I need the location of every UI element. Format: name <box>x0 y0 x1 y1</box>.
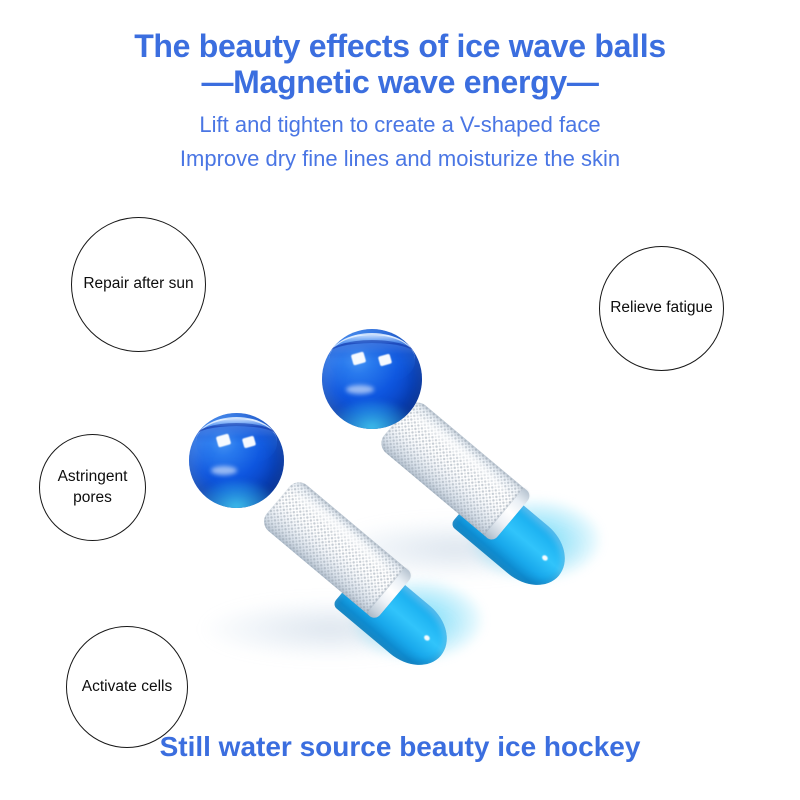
ball-rim <box>195 423 279 451</box>
benefit-label: Repair after sun <box>73 274 203 295</box>
benefit-circle-relieve-fatigue: Relieve fatigue <box>599 246 724 371</box>
ball-soft-highlight <box>346 385 374 394</box>
ball-underglow <box>334 401 410 429</box>
handle-sheen <box>409 410 511 499</box>
ball-rim <box>328 340 416 369</box>
ball-soft-highlight <box>211 466 237 475</box>
ice-ball <box>322 329 422 429</box>
ball-underglow <box>200 481 272 508</box>
benefit-circle-astringent-pores: Astringent pores <box>39 434 146 541</box>
ice-ball <box>189 413 284 508</box>
product-banner: The beauty effects of ice wave balls —Ma… <box>0 0 800 800</box>
cap-highlight-dot <box>542 554 550 562</box>
benefit-label: Astringent pores <box>40 467 145 509</box>
benefit-label: Activate cells <box>78 677 176 698</box>
benefit-circle-repair-after-sun: Repair after sun <box>71 217 206 352</box>
benefit-label: Relieve fatigue <box>600 298 723 319</box>
cap-highlight-dot <box>424 634 432 642</box>
benefit-circle-activate-cells: Activate cells <box>66 626 188 748</box>
